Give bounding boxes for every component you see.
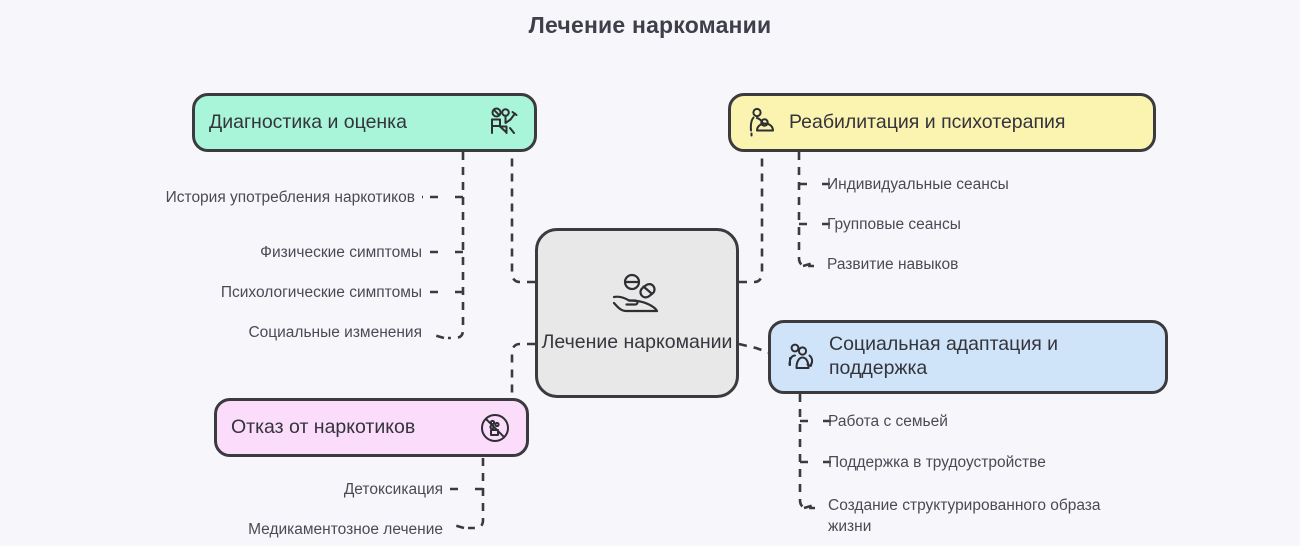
branch-label-diagnostics: Диагностика и оценка bbox=[209, 111, 407, 135]
leaf-diagnostics-2: Физические симптомы bbox=[85, 242, 422, 263]
leaf-diagnostics-4: Социальные изменения bbox=[85, 322, 422, 343]
edge-refusal-stub-2 bbox=[450, 524, 464, 528]
leaf-rehab-2: Групповые сеансы bbox=[827, 214, 1157, 235]
leaf-diagnostics-1: История употребления наркотиков bbox=[85, 187, 415, 208]
people-support-icon bbox=[785, 340, 819, 374]
mindmap-canvas: Лечение наркомании Диагностика и оценка bbox=[0, 0, 1300, 546]
edge-center-rehab bbox=[739, 152, 762, 282]
edge-diagnostics-stub-4 bbox=[430, 334, 444, 338]
branch-node-refusal[interactable]: Отказ от наркотиков bbox=[214, 398, 529, 457]
leaf-diagnostics-3: Психологические симптомы bbox=[85, 282, 422, 303]
edge-diagnostics-trunk bbox=[448, 152, 463, 338]
branch-label-refusal: Отказ от наркотиков bbox=[231, 416, 415, 440]
branch-node-rehab[interactable]: Реабилитация и психотерапия bbox=[728, 93, 1156, 152]
edge-refusal-trunk bbox=[468, 458, 483, 528]
center-node-label: Лечение наркомании bbox=[542, 331, 733, 355]
leaf-social-1: Работа с семьей bbox=[828, 411, 1158, 432]
page-title: Лечение наркомании bbox=[0, 12, 1300, 39]
edge-social-stub-3 bbox=[804, 504, 818, 508]
branch-node-diagnostics[interactable]: Диагностика и оценка bbox=[192, 93, 537, 152]
branch-node-social[interactable]: Социальная адаптация и поддержка bbox=[768, 320, 1168, 394]
leaf-social-3: Создание структурированного образа жизни bbox=[828, 495, 1143, 538]
center-node[interactable]: Лечение наркомании bbox=[535, 228, 739, 398]
leaf-social-2: Поддержка в трудоустройстве bbox=[828, 452, 1158, 473]
edge-rehab-stub-3 bbox=[803, 262, 817, 266]
no-drugs-icon bbox=[478, 411, 512, 445]
leaf-rehab-3: Развитие навыков bbox=[827, 254, 1157, 275]
leaf-rehab-1: Индивидуальные сеансы bbox=[827, 174, 1157, 195]
edge-social-trunk bbox=[800, 394, 815, 508]
branch-label-rehab: Реабилитация и психотерапия bbox=[789, 111, 1066, 135]
edge-center-diagnostics bbox=[512, 152, 535, 282]
branch-label-social: Социальная адаптация и поддержка bbox=[829, 333, 1151, 381]
leaf-refusal-1: Детоксикация bbox=[120, 479, 443, 500]
leaf-refusal-2: Медикаментозное лечение bbox=[120, 519, 443, 540]
hand-holding-pills-icon bbox=[608, 271, 666, 321]
edge-rehab-trunk bbox=[799, 152, 814, 266]
person-assessment-icon bbox=[486, 106, 520, 140]
therapy-session-icon bbox=[745, 106, 779, 140]
